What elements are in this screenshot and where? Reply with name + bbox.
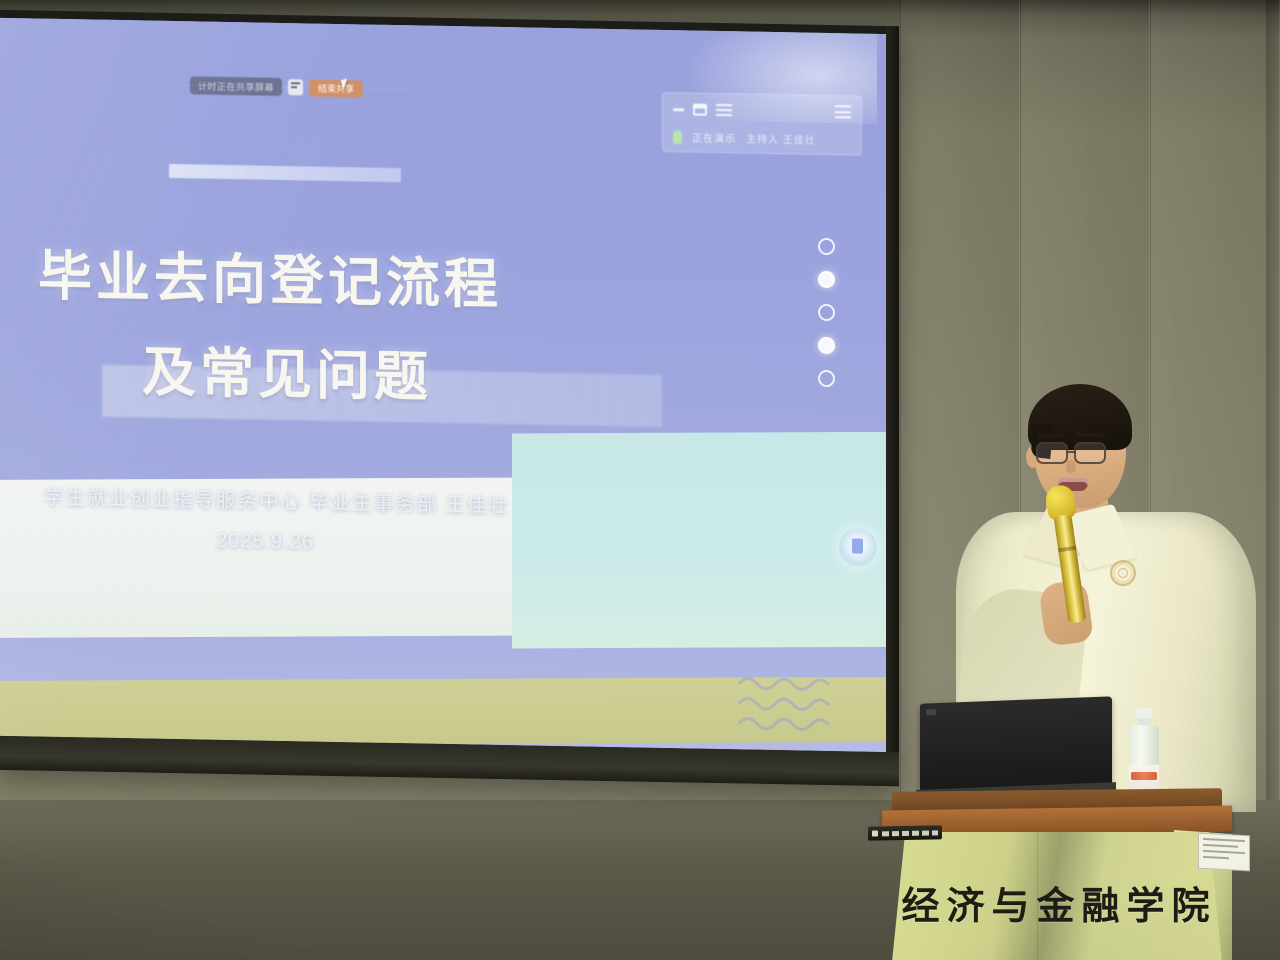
university-emblem-icon [1110, 560, 1136, 586]
screen-bezel-right [886, 26, 899, 786]
more-options-icon[interactable] [835, 105, 851, 118]
panel-status-row: 正在演示 主持人 王佳壮 [673, 129, 816, 147]
presenter-nose [1066, 460, 1076, 473]
eyeglass-bridge [1067, 451, 1076, 453]
projection-screen: 毕业去向登记流程 及常见问题 学生就业创业指导服务中心 毕业生事务部 王佳壮 2… [0, 10, 899, 787]
nav-dot-3[interactable] [818, 304, 835, 321]
nav-dot-4[interactable] [818, 337, 835, 354]
wave-decoration-icon [737, 671, 847, 735]
share-status-label: 计时正在共享屏幕 [190, 76, 282, 96]
microphone-icon[interactable] [673, 130, 682, 144]
minimize-icon[interactable] [673, 108, 684, 111]
slide-title-line-1: 毕业去向登记流程 [38, 232, 887, 327]
podium-plaque [868, 825, 942, 840]
slide-date: 2025.9.26 [216, 530, 314, 555]
laser-pointer-cursor[interactable] [839, 528, 877, 567]
projected-slide-surface: 毕业去向登记流程 及常见问题 学生就业创业指导服务中心 毕业生事务部 王佳壮 2… [0, 18, 887, 752]
menu-icon[interactable] [716, 104, 732, 116]
screen-share-toolbar[interactable]: 计时正在共享屏幕 结束共享 [190, 75, 363, 98]
nav-dot-1[interactable] [818, 238, 835, 255]
lectern-podium: 经济与金融学院 [856, 790, 1256, 960]
nav-dot-5[interactable] [818, 370, 835, 387]
meeting-status-panel[interactable]: 正在演示 主持人 王佳壮 [662, 92, 862, 156]
host-name-text: 主持人 王佳壮 [746, 130, 816, 146]
eyeglass-lens-left [1036, 442, 1068, 464]
presentation-slide: 毕业去向登记流程 及常见问题 学生就业创业指导服务中心 毕业生事务部 王佳壮 2… [0, 18, 887, 752]
screen-share-icon[interactable] [288, 79, 303, 95]
podium-asset-label [1198, 833, 1250, 872]
podium-sign-text: 经济与金融学院 [894, 875, 1224, 930]
bottle-label [1129, 765, 1159, 791]
presenting-status-text: 正在演示 [692, 129, 736, 145]
nav-dot-2[interactable] [818, 271, 835, 288]
eyeglass-lens-right [1074, 442, 1106, 464]
conference-room-background: 毕业去向登记流程 及常见问题 学生就业创业指导服务中心 毕业生事务部 王佳壮 2… [0, 0, 1280, 960]
presenter-hair [1028, 384, 1132, 450]
window-icon[interactable] [693, 104, 707, 116]
water-bottle [1129, 708, 1159, 800]
laptop-computer[interactable] [920, 696, 1112, 795]
slide-navigation-dots[interactable] [818, 238, 835, 387]
microphone-body [1054, 514, 1087, 623]
slide-title-line-2: 及常见问题 [142, 327, 887, 420]
end-share-button[interactable]: 结束共享 [309, 79, 363, 97]
panel-icon-row[interactable] [673, 103, 732, 116]
